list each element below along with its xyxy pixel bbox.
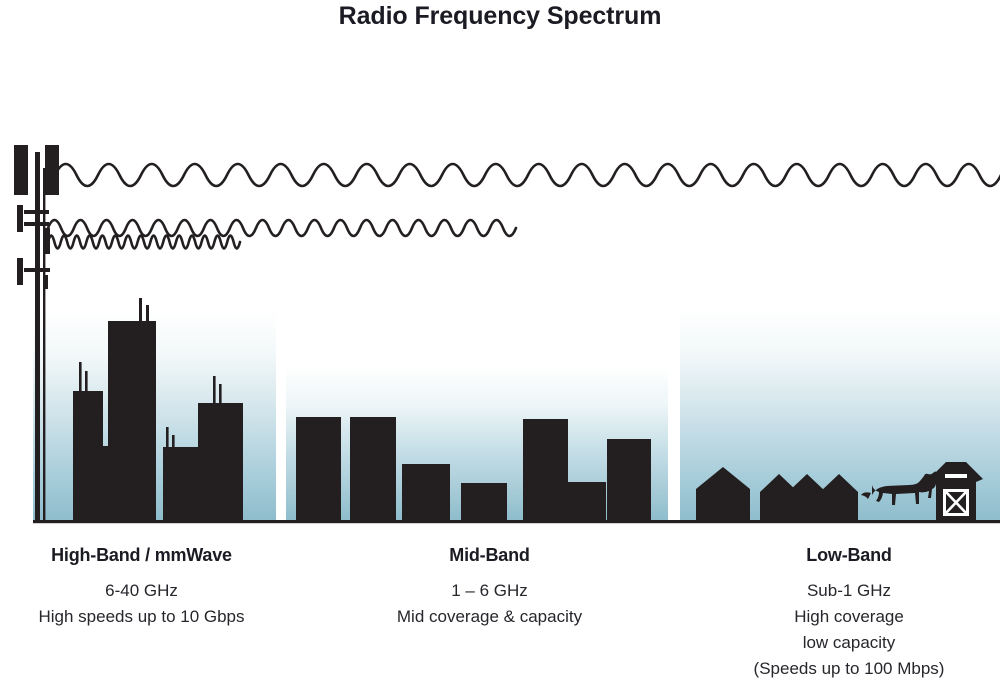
skyscraper-tower [108, 321, 156, 520]
band-detail-low-2: (Speeds up to 100 Mbps) [698, 656, 1000, 682]
tower-mast [35, 152, 40, 520]
building-block [461, 483, 507, 520]
building-block [607, 439, 651, 520]
building-block [568, 482, 606, 520]
medium-wavelength-wave [48, 220, 516, 236]
skyscraper-spire [139, 298, 142, 322]
band-title-mid: Mid-Band [338, 544, 641, 566]
antenna-panel-left [14, 145, 28, 195]
band-detail-high-0: High speeds up to 10 Gbps [0, 604, 283, 630]
skyscraper-spire [166, 427, 169, 447]
skyscraper-spire [85, 371, 88, 392]
long-wavelength-wave [55, 164, 1000, 186]
antenna-crossbar-lower [24, 268, 50, 272]
skyscraper-spire [172, 435, 175, 447]
band-description-high: 6-40 GHz High speeds up to 10 Gbps [0, 578, 283, 630]
antenna-stub-lower [45, 275, 48, 289]
tower-mast-secondary [43, 168, 45, 520]
band-frequency-low: Sub-1 GHz [698, 578, 1000, 604]
skyscraper-spire [146, 305, 149, 322]
antenna-panel-right [45, 145, 59, 195]
short-wavelength-wave [48, 236, 240, 249]
skyscraper-spire [213, 376, 216, 404]
building-block [402, 464, 450, 520]
ground-line [33, 520, 1000, 523]
skyscraper-spire [79, 362, 82, 392]
barn-hayloft-window [945, 474, 967, 478]
band-description-low: Sub-1 GHz High coverage low capacity (Sp… [698, 578, 1000, 682]
band-detail-mid-0: Mid coverage & capacity [338, 604, 641, 630]
antenna-element-upper [17, 205, 23, 232]
band-title-high: High-Band / mmWave [0, 544, 283, 566]
band-frequency-high: 6-40 GHz [0, 578, 283, 604]
skyscraper-tower [73, 391, 103, 520]
skyscraper-tower [163, 447, 198, 520]
antenna-element-lower [17, 258, 23, 285]
building-block [523, 419, 568, 520]
antenna-crossbar-upper-b [24, 222, 49, 226]
band-column-high: High-Band / mmWave 6-40 GHz High speeds … [0, 544, 283, 630]
building-block [296, 417, 341, 520]
band-detail-low-1: low capacity [698, 630, 1000, 656]
band-labels: High-Band / mmWave 6-40 GHz High speeds … [0, 544, 1000, 700]
band-description-mid: 1 – 6 GHz Mid coverage & capacity [338, 578, 641, 630]
band-title-low: Low-Band [698, 544, 1000, 566]
skyscraper-spire [219, 384, 222, 404]
band-frequency-mid: 1 – 6 GHz [338, 578, 641, 604]
band-column-mid: Mid-Band 1 – 6 GHz Mid coverage & capaci… [338, 544, 641, 630]
band-column-low: Low-Band Sub-1 GHz High coverage low cap… [698, 544, 1000, 682]
radio-waves [48, 164, 1000, 249]
building-block [350, 417, 396, 520]
band-detail-low-0: High coverage [698, 604, 1000, 630]
antenna-crossbar-upper-a [24, 210, 49, 214]
antenna-element-mid [44, 228, 50, 254]
skyscraper-tower [198, 403, 243, 520]
